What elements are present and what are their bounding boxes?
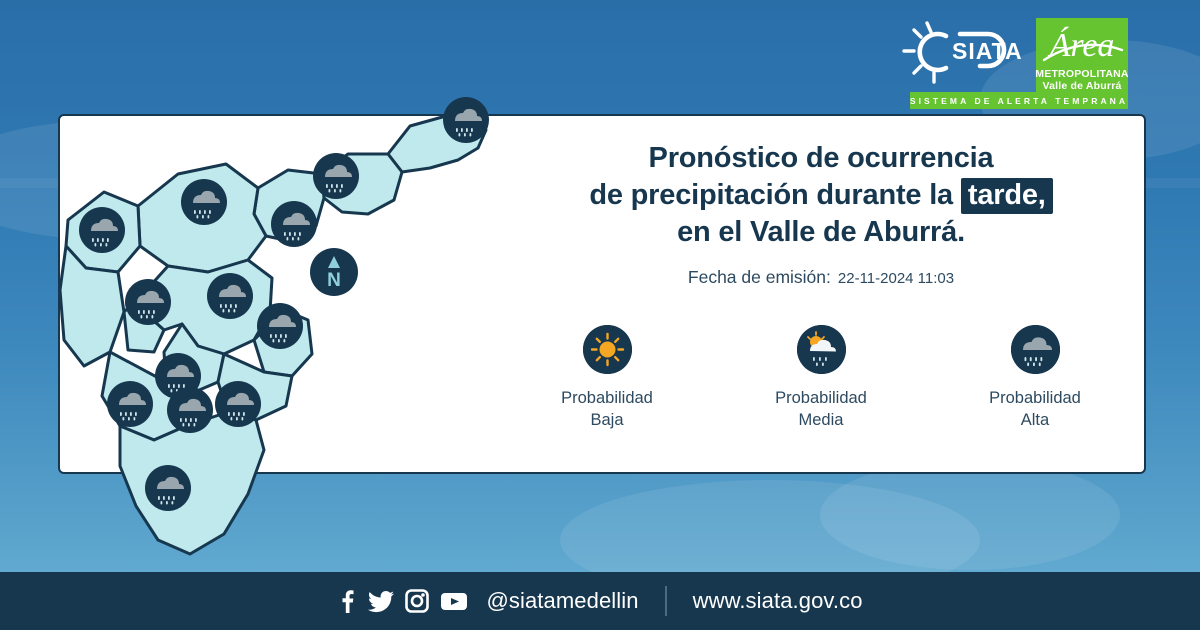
map-marker-cloud-rain <box>181 179 227 225</box>
instagram-icon[interactable] <box>405 589 429 613</box>
youtube-icon[interactable] <box>440 589 468 613</box>
map-marker-cloud-rain <box>145 465 191 511</box>
legend-media-line2: Media <box>775 409 867 431</box>
map-marker-cloud-rain <box>125 279 171 325</box>
area-logo-line2: Valle de Aburrá <box>1042 80 1121 92</box>
compass-icon: N <box>310 248 358 296</box>
footer-divider <box>665 586 667 616</box>
area-logo-line1: METROPOLITANA <box>1035 68 1128 80</box>
legend-baja-line2: Baja <box>561 409 653 431</box>
legend-media-line1: Probabilidad <box>775 387 867 409</box>
title-line-3: en el Valle de Aburrá. <box>500 214 1142 251</box>
map-marker-cloud-rain <box>167 387 213 433</box>
map-marker-cloud-rain <box>207 273 253 319</box>
tagline-text: SISTEMA DE ALERTA TEMPRANA <box>910 96 1128 106</box>
legend-item-baja: Probabilidad Baja <box>512 325 702 431</box>
issue-date-value: 22-11-2024 11:03 <box>838 270 954 287</box>
cloud-rain-icon <box>1011 325 1060 374</box>
sun-cloud-rain-icon <box>797 325 846 374</box>
issue-date-label: Fecha de emisión: <box>688 267 831 288</box>
title-highlight-tarde: tarde, <box>961 178 1053 214</box>
website-url[interactable]: www.siata.gov.co <box>693 588 863 614</box>
forecast-text-block: Pronóstico de ocurrencia de precipitació… <box>500 140 1142 288</box>
social-icons <box>337 589 468 613</box>
issue-date-row: Fecha de emisión: 22-11-2024 11:03 <box>500 267 1142 288</box>
sun-icon <box>583 325 632 374</box>
area-script-icon: Área <box>1036 20 1128 68</box>
legend-label-baja: Probabilidad Baja <box>561 387 653 431</box>
tagline-bar: SISTEMA DE ALERTA TEMPRANA <box>910 92 1128 109</box>
map-container: N <box>58 114 528 574</box>
social-handle[interactable]: @siatamedellin <box>486 588 638 614</box>
map-marker-cloud-rain <box>271 201 317 247</box>
map-marker-cloud-rain <box>107 381 153 427</box>
municipio-caldas <box>120 412 264 554</box>
probability-legend: Probabilidad Baja Probabilidad Media Pro… <box>500 325 1142 431</box>
legend-alta-line2: Alta <box>989 409 1081 431</box>
title-line-2: de precipitación durante la tarde, <box>500 177 1142 214</box>
legend-label-media: Probabilidad Media <box>775 387 867 431</box>
title-line-2-text: de precipitación durante la <box>589 179 953 211</box>
siata-logo-icon: SIATA <box>900 18 1028 90</box>
legend-label-alta: Probabilidad Alta <box>989 387 1081 431</box>
map-marker-cloud-rain <box>215 381 261 427</box>
compass-rose: N <box>310 248 358 296</box>
map-marker-cloud-rain <box>79 207 125 253</box>
legend-baja-line1: Probabilidad <box>561 387 653 409</box>
compass-north-label: N <box>327 270 341 291</box>
siata-logo: SIATA <box>900 18 1028 90</box>
map-marker-cloud-rain <box>443 97 489 143</box>
header-logos: SIATA Área METROPOLITANA Valle de Aburrá <box>900 18 1128 96</box>
title-line-1: Pronóstico de ocurrencia <box>500 140 1142 177</box>
facebook-icon[interactable] <box>337 589 357 613</box>
twitter-icon[interactable] <box>368 589 394 613</box>
map-marker-cloud-rain <box>257 303 303 349</box>
legend-alta-line1: Probabilidad <box>989 387 1081 409</box>
page-title: Pronóstico de ocurrencia de precipitació… <box>500 140 1142 251</box>
area-metropolitana-logo: Área METROPOLITANA Valle de Aburrá <box>1036 18 1128 96</box>
siata-logo-text: SIATA <box>952 38 1023 64</box>
legend-item-media: Probabilidad Media <box>726 325 916 431</box>
background-cloud-4 <box>820 460 1120 570</box>
footer-bar: @siatamedellin www.siata.gov.co <box>0 572 1200 630</box>
infographic-root: SIATA Área METROPOLITANA Valle de Aburrá… <box>0 0 1200 630</box>
map-marker-cloud-rain <box>313 153 359 199</box>
legend-item-alta: Probabilidad Alta <box>940 325 1130 431</box>
